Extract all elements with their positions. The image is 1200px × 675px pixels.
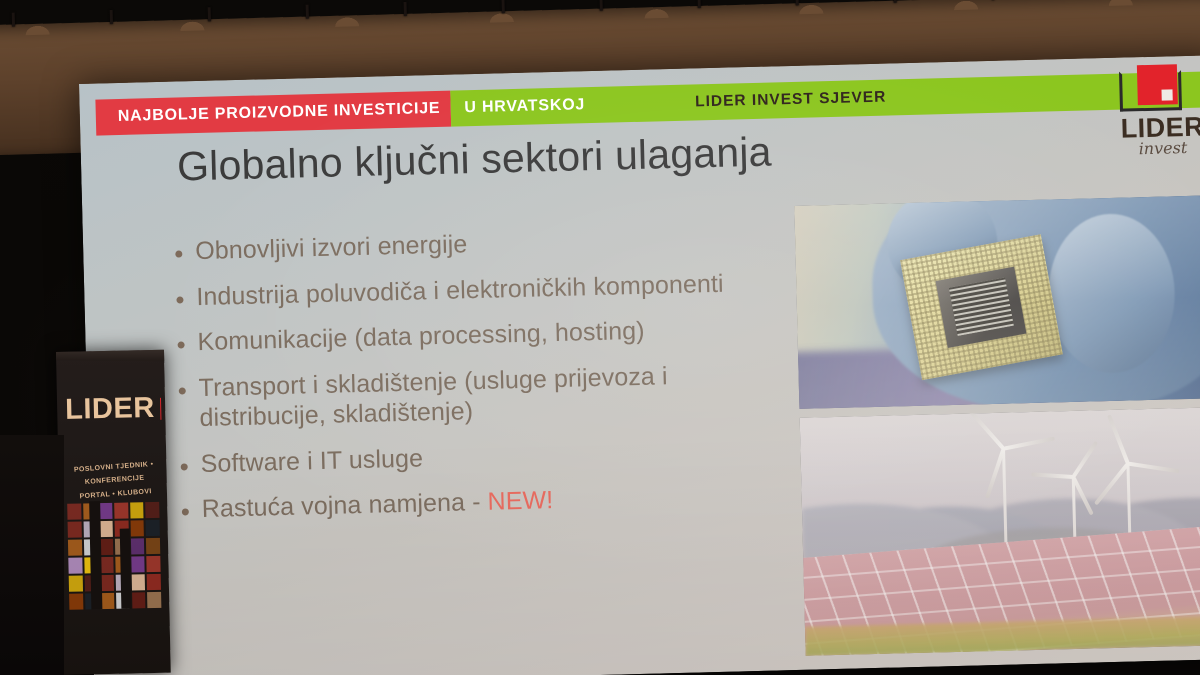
rollup-magazine-cover — [130, 502, 144, 518]
rollup-magazine-cover — [146, 538, 160, 554]
rollup-magazine-cover — [145, 502, 159, 518]
rollup-silhouette-left — [89, 501, 102, 609]
bullet-dot-icon — [181, 463, 188, 470]
bullet-dot-icon — [175, 250, 182, 257]
bullet-text: Software i IT usluge — [200, 443, 423, 479]
renewable-energy-photo — [800, 407, 1200, 656]
bullet-item: Rastuća vojna namjena - NEW! — [181, 479, 802, 525]
rollup-subtitle: POSLOVNI TJEDNIK • KONFERENCIJE PORTAL •… — [61, 457, 168, 504]
bullet-item: Obnovljivi izvori energije — [175, 221, 796, 267]
rollup-red-square-icon — [159, 397, 161, 419]
rollup-magazine-cover-grid — [67, 502, 161, 608]
rollup-silhouette-right — [120, 528, 132, 608]
bullet-text: Industrija poluvodiča i elektroničkih ko… — [196, 268, 724, 312]
rollup-magazine-cover — [100, 557, 114, 573]
rollup-magazine-cover — [147, 592, 161, 608]
projection-screen: NAJBOLJE PROIZVODNE INVESTICIJE U HRVATS… — [79, 55, 1200, 675]
rollup-magazine-cover — [68, 540, 82, 556]
rollup-magazine-cover — [68, 558, 82, 574]
rollup-magazine-cover — [99, 503, 113, 519]
rollup-magazine-cover — [99, 539, 113, 555]
bullet-dot-icon — [178, 341, 185, 348]
bullet-item: Software i IT usluge — [180, 433, 801, 479]
rollup-magazine-cover — [114, 503, 128, 519]
rollup-magazine-cover — [68, 522, 82, 538]
rollup-magazine-cover — [69, 575, 83, 591]
logo-red-square-icon — [1137, 64, 1178, 105]
rollup-top-cap — [56, 350, 171, 362]
rollup-magazine-cover — [131, 538, 145, 554]
rollup-magazine-cover — [67, 504, 81, 520]
slide-title: Globalno ključni sektori ulaganja — [177, 124, 938, 190]
bullet-item: Transport i skladištenje (usluge prijevo… — [178, 357, 799, 434]
slide-header-banner: NAJBOLJE PROIZVODNE INVESTICIJE U HRVATS… — [95, 71, 1200, 135]
slide-bullet-list: Obnovljivi izvori energijeIndustrija pol… — [175, 221, 802, 540]
header-sjever-label: LIDER INVEST SJEVER — [695, 89, 887, 112]
bullet-item: Industrija poluvodiča i elektroničkih ko… — [176, 266, 797, 312]
presentation-photo-scene: NAJBOLJE PROIZVODNE INVESTICIJE U HRVATS… — [0, 0, 1200, 675]
bullet-dot-icon — [182, 508, 189, 515]
rollup-magazine-cover — [131, 574, 145, 590]
bullet-text: Komunikacije (data processing, hosting) — [197, 316, 645, 358]
bullet-text: Transport i skladištenje (usluge prijevo… — [198, 357, 799, 433]
rollup-magazine-cover — [147, 574, 161, 590]
rollup-magazine-cover — [69, 593, 83, 609]
rollup-magazine-cover — [146, 520, 160, 536]
bullet-text: Obnovljivi izvori energije — [195, 229, 468, 266]
logo-subword: invest — [1111, 137, 1200, 159]
header-green-label: U HRVATSKOJ — [464, 96, 585, 117]
foreground-dark-equipment — [0, 435, 64, 675]
lider-rollup-banner: LIDER POSLOVNI TJEDNIK • KONFERENCIJE PO… — [56, 350, 171, 675]
rollup-magazine-cover — [131, 556, 145, 572]
rollup-logo: LIDER — [65, 392, 162, 427]
bullet-text: Rastuća vojna namjena - NEW! — [201, 485, 553, 524]
header-green-segment: U HRVATSKOJ LIDER INVEST SJEVER — [450, 71, 1200, 126]
chip-photo-processor — [900, 234, 1063, 380]
chip-photo-die — [936, 266, 1027, 348]
slide-canvas: NAJBOLJE PROIZVODNE INVESTICIJE U HRVATS… — [79, 55, 1200, 675]
rollup-magazine-cover — [100, 593, 114, 609]
lider-invest-logo: LIDER invest — [1109, 65, 1200, 168]
semiconductor-chip-photo — [794, 195, 1200, 409]
bullet-dot-icon — [179, 387, 186, 394]
rollup-wordmark: LIDER — [65, 392, 155, 427]
bullet-highlight-new: NEW! — [487, 486, 553, 516]
turbine-blade — [1094, 462, 1130, 505]
rollup-magazine-cover — [99, 521, 113, 537]
rollup-magazine-cover — [130, 520, 144, 536]
bullet-item: Komunikacije (data processing, hosting) — [177, 312, 798, 358]
rollup-magazine-cover — [100, 575, 114, 591]
header-red-segment: NAJBOLJE PROIZVODNE INVESTICIJE — [95, 91, 450, 136]
rollup-magazine-cover — [132, 592, 146, 608]
bullet-dot-icon — [176, 296, 183, 303]
rollup-magazine-cover — [147, 556, 161, 572]
